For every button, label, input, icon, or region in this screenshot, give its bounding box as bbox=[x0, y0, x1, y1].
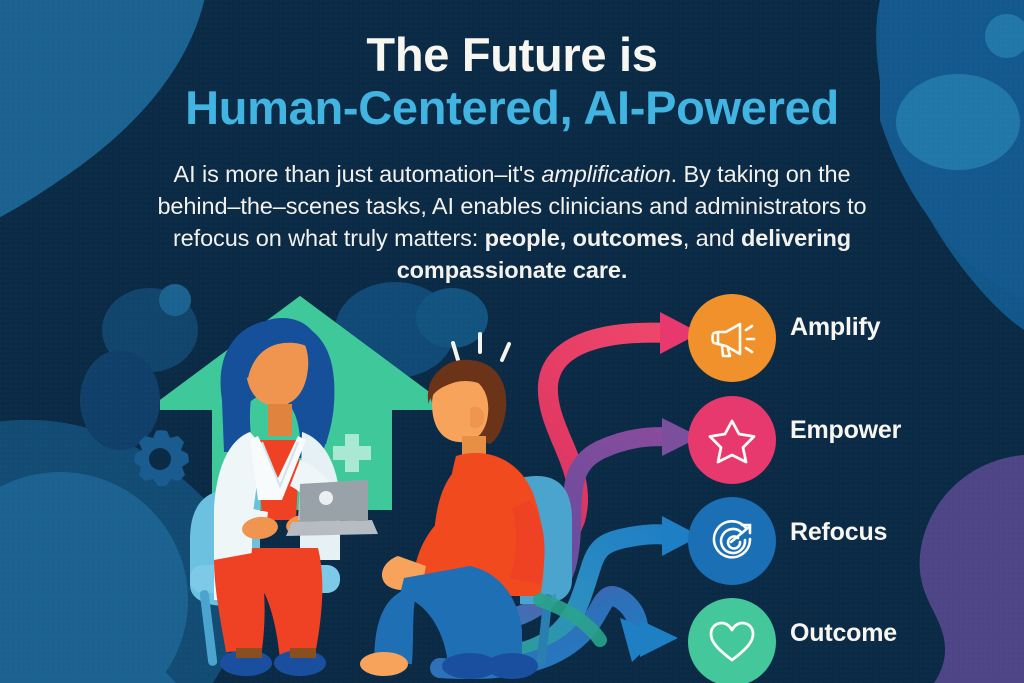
laptop bbox=[286, 480, 378, 536]
megaphone-icon bbox=[706, 312, 758, 364]
badge-refocus[interactable] bbox=[688, 497, 776, 585]
body-paragraph: AI is more than just automation–it's amp… bbox=[132, 158, 892, 286]
body-segment-5: , and bbox=[683, 225, 741, 251]
star-icon bbox=[706, 414, 758, 466]
body-segment-people-outcomes: people, outcomes bbox=[485, 225, 683, 251]
badge-amplify[interactable] bbox=[688, 294, 776, 382]
badge-label-outcome: Outcome bbox=[790, 619, 897, 648]
headline-line-1: The Future is bbox=[0, 30, 1024, 80]
idea-spark-lines bbox=[453, 334, 509, 360]
heart-icon bbox=[706, 616, 758, 668]
headline-line-2: Human-Centered, AI-Powered bbox=[0, 80, 1024, 136]
headline-block: The Future is Human-Centered, AI-Powered bbox=[0, 30, 1024, 136]
badge-label-refocus: Refocus bbox=[790, 518, 887, 547]
badge-label-empower: Empower bbox=[790, 416, 901, 445]
badge-outcome[interactable] bbox=[688, 598, 776, 683]
badge-empower[interactable] bbox=[688, 396, 776, 484]
body-segment-amplification: amplification bbox=[541, 161, 670, 187]
badge-label-amplify: Amplify bbox=[790, 313, 880, 342]
gear-icon bbox=[134, 430, 189, 486]
infographic-canvas: The Future is Human-Centered, AI-Powered… bbox=[0, 0, 1024, 683]
target-icon bbox=[706, 515, 758, 567]
body-segment-1: AI is more than just automation–it's bbox=[174, 161, 542, 187]
